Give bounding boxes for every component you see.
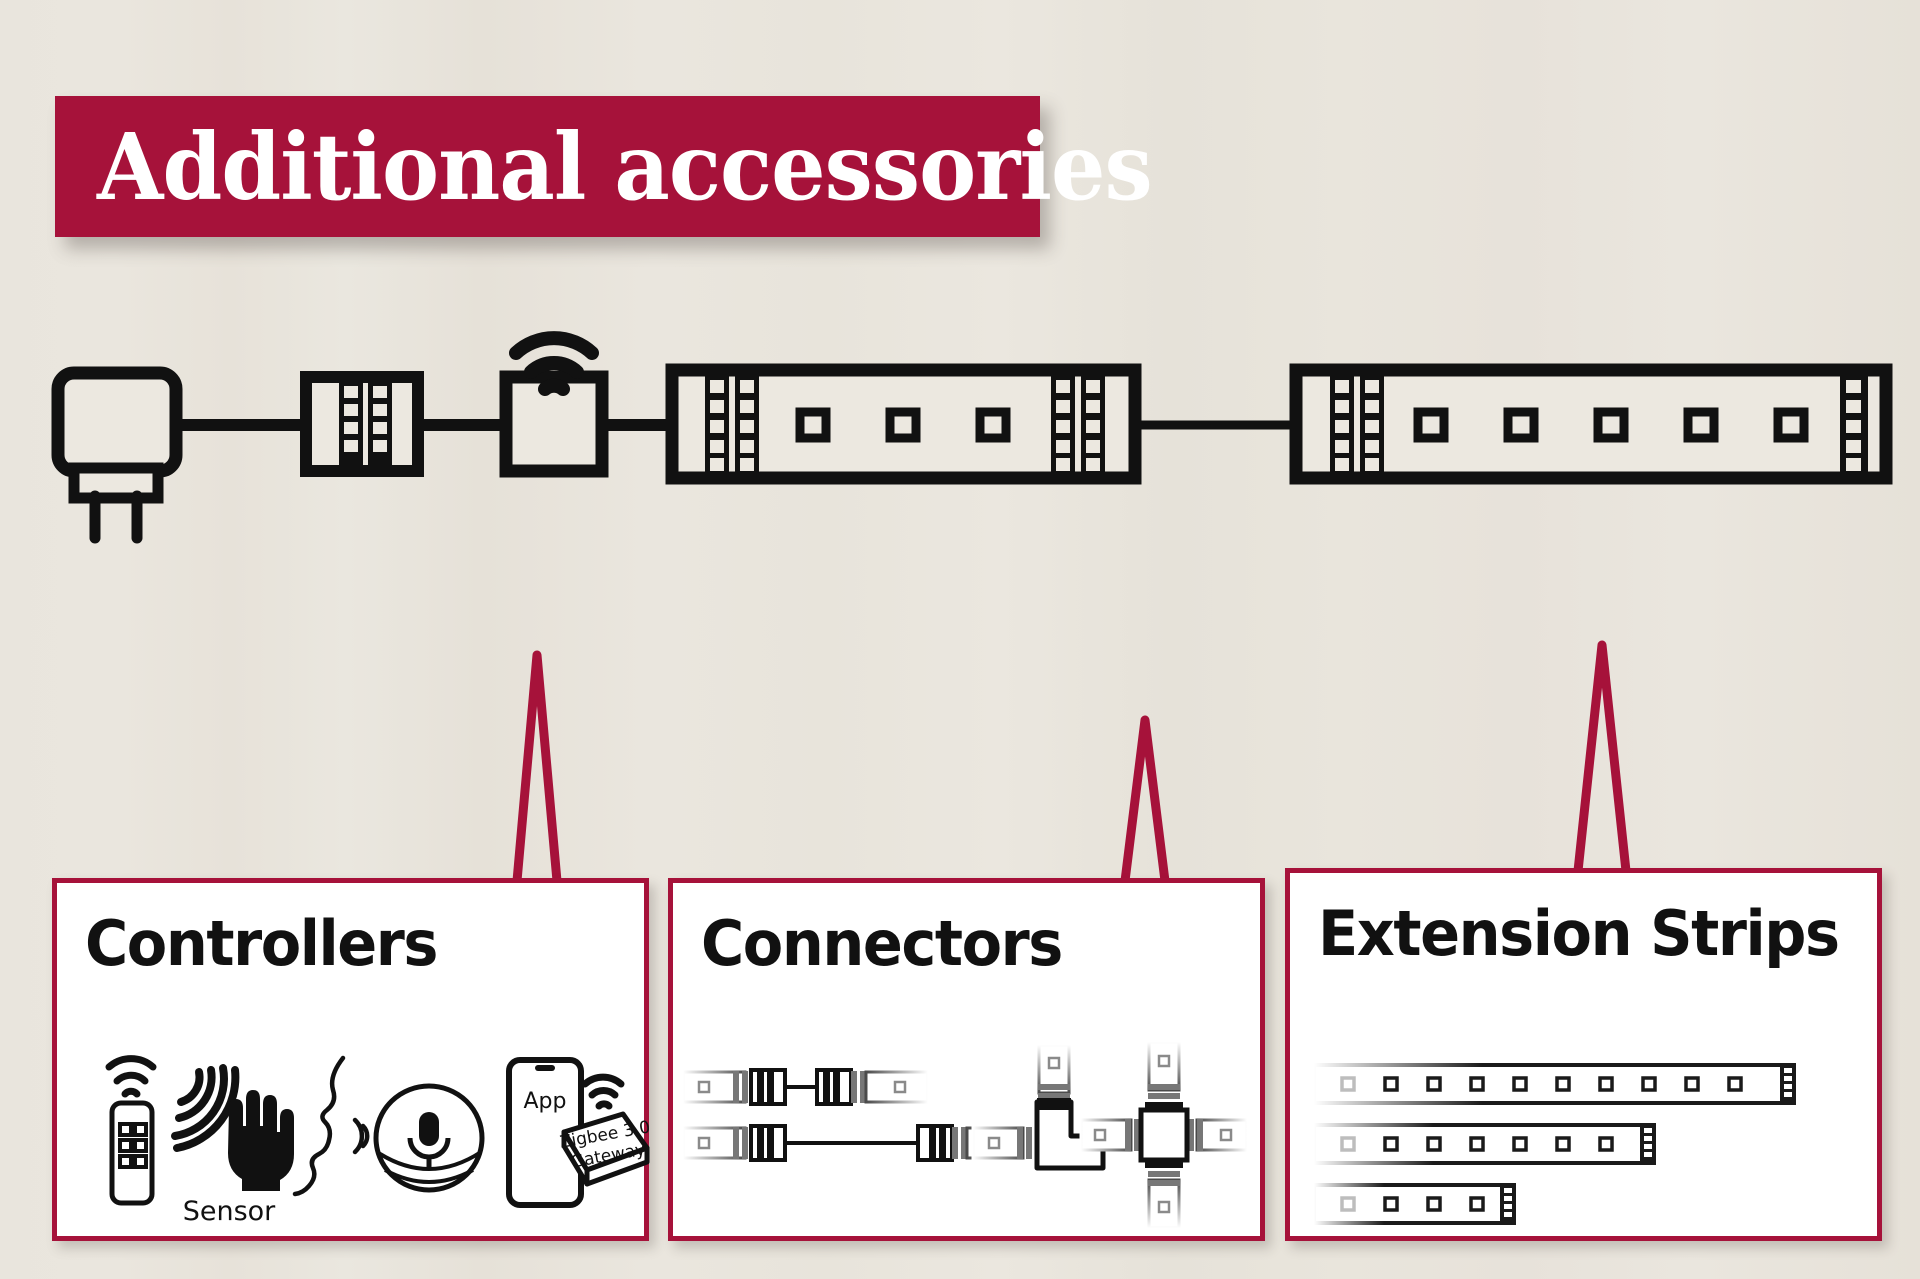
strip-connector-icon-1 [306,377,418,471]
extension-strip-medium-icon [1314,1125,1655,1163]
card-extension-strips[interactable]: Extension Strips [1285,868,1882,1241]
extension-strip-short-icon [1314,1185,1515,1223]
title-banner: Additional accessories [55,96,1040,237]
card-controllers[interactable]: Controllers [52,878,649,1241]
extension-strips-art [1290,1040,1887,1230]
app-label: App [524,1089,567,1114]
page-title: Additional accessories [97,121,1152,213]
card-title-extension-strips: Extension Strips [1318,897,1839,970]
led-system-schematic [0,300,1920,680]
card-title-connectors: Connectors [701,907,1062,980]
hand-sensor-icon [175,1068,294,1191]
controllers-art: Sensor App [57,1040,654,1230]
power-supply-icon [58,373,176,538]
sensor-label: Sensor [183,1196,276,1227]
card-title-controllers: Controllers [85,907,437,980]
connectors-art [673,1040,1270,1230]
extension-strip-long-icon [1314,1065,1795,1103]
short-jumper-connector-icon [683,1070,928,1104]
voice-assistant-icon [295,1058,482,1194]
card-connectors[interactable]: Connectors [668,878,1265,1241]
led-strip-1-icon [672,370,1135,478]
led-strip-2-extension-icon [1296,370,1886,478]
pointer-connectors [1125,720,1165,881]
remote-control-icon [109,1059,153,1203]
cross-x-connector-icon [1081,1042,1247,1228]
infographic-canvas: Additional accessories [0,0,1920,1279]
pointer-controllers [517,655,557,881]
